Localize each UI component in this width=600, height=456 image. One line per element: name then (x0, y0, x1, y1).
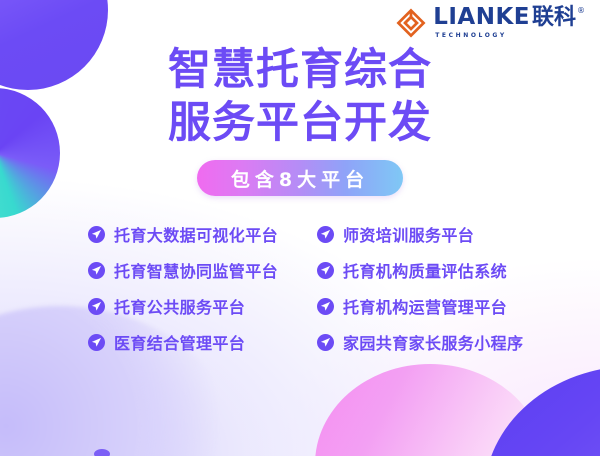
feature-item-label: 托育公共服务平台 (114, 294, 245, 318)
send-arrow-icon (317, 226, 334, 243)
feature-item-label: 托育智慧协同监管平台 (114, 258, 278, 282)
feature-item[interactable]: 托育智慧协同监管平台 (88, 258, 303, 282)
send-arrow-icon (88, 298, 105, 315)
send-arrow-icon (88, 226, 105, 243)
page-title: 智慧托育综合 服务平台开发 (0, 44, 600, 150)
page-title-line-2: 服务平台开发 (0, 97, 600, 150)
feature-item-label: 医育结合管理平台 (114, 330, 245, 354)
feature-item[interactable]: 家园共育家长服务小程序 (317, 330, 546, 354)
feature-item-label: 托育大数据可视化平台 (114, 222, 278, 246)
page-title-line-1: 智慧托育综合 (0, 44, 600, 97)
promo-poster: LIANKE 联科 ® TECHNOLOGY 智慧托育综合 服务平台开发 包含8… (0, 0, 600, 456)
badge-container: 包含8大平台 (0, 160, 600, 196)
feature-item[interactable]: 托育机构质量评估系统 (317, 258, 546, 282)
feature-item[interactable]: 医育结合管理平台 (88, 330, 303, 354)
brand-logo-text: LIANKE 联科 ® TECHNOLOGY (433, 6, 584, 39)
send-arrow-icon (317, 262, 334, 279)
send-arrow-icon (88, 334, 105, 351)
decor-bottom-right-pink-dome (315, 364, 545, 456)
decor-bottom-violet-dot (94, 449, 110, 456)
send-arrow-icon (317, 334, 334, 351)
platform-count-badge: 包含8大平台 (197, 160, 403, 196)
feature-item-label: 托育机构质量评估系统 (343, 258, 507, 282)
decor-bottom-right-violet-wedge (484, 366, 600, 456)
registered-trademark-icon: ® (577, 7, 585, 15)
feature-item-label: 托育机构运营管理平台 (343, 294, 507, 318)
feature-item-label: 家园共育家长服务小程序 (343, 330, 523, 354)
feature-list: 托育大数据可视化平台师资培训服务平台托育智慧协同监管平台托育机构质量评估系统托育… (88, 216, 546, 360)
send-arrow-icon (317, 298, 334, 315)
brand-tagline: TECHNOLOGY (435, 33, 507, 39)
feature-item[interactable]: 托育大数据可视化平台 (88, 222, 303, 246)
brand-name-cn: 联科 (532, 7, 576, 29)
lianke-diamond-logo-icon (396, 8, 426, 38)
send-arrow-icon (88, 262, 105, 279)
feature-item[interactable]: 师资培训服务平台 (317, 222, 546, 246)
brand-logo[interactable]: LIANKE 联科 ® TECHNOLOGY (396, 6, 584, 46)
feature-item[interactable]: 托育机构运营管理平台 (317, 294, 546, 318)
brand-name-latin: LIANKE (433, 6, 530, 29)
feature-item-label: 师资培训服务平台 (343, 222, 474, 246)
feature-item[interactable]: 托育公共服务平台 (88, 294, 303, 318)
